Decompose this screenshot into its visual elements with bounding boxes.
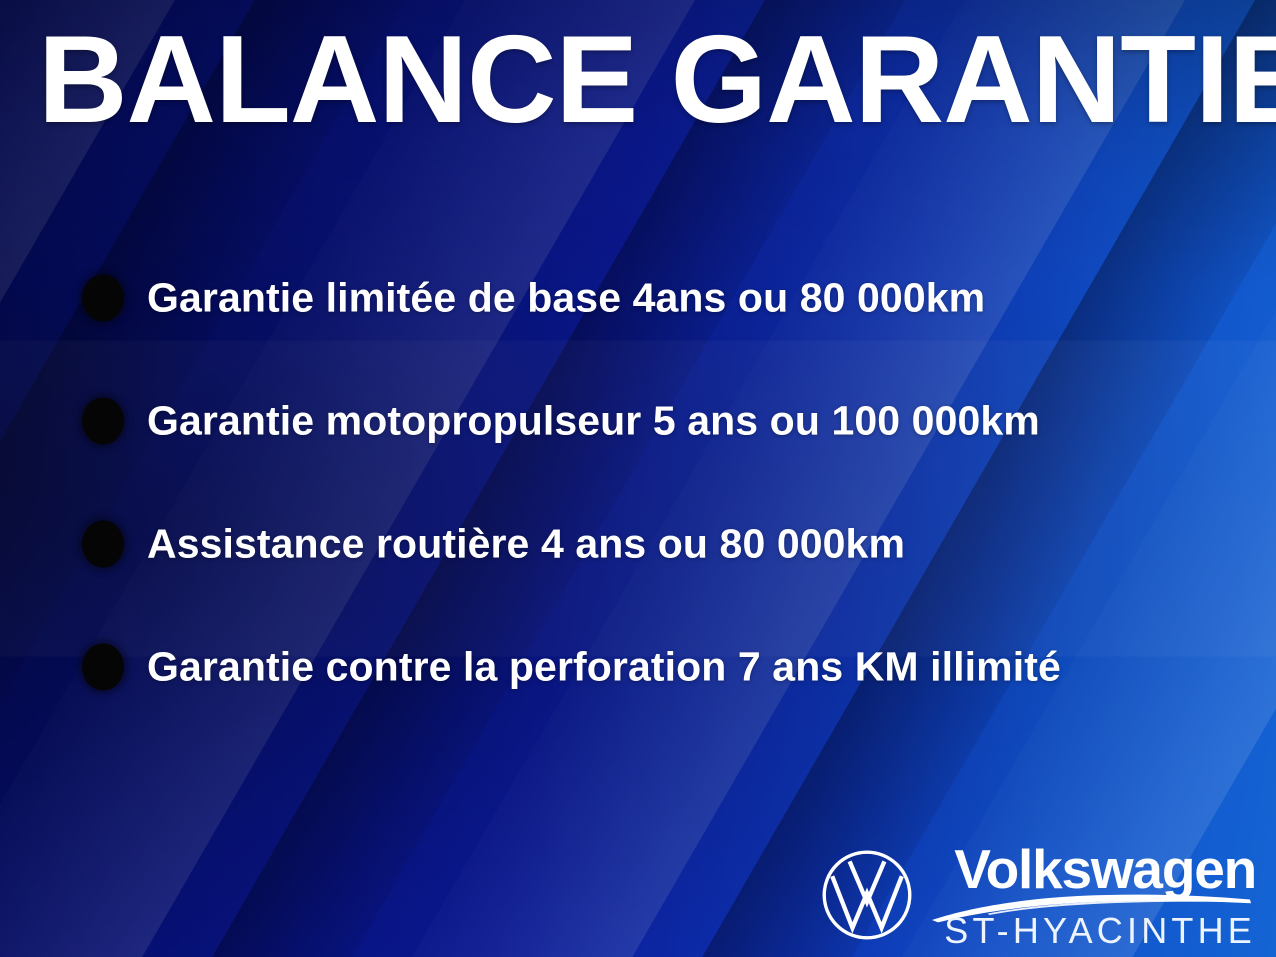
volkswagen-roundel-icon [820,848,914,942]
warranty-list: Garantie limitée de base 4ans ou 80 000k… [0,236,1276,728]
volkswagen-logo-lockup: Volkswagen ST-HYACINTHE [820,842,1258,949]
list-item: Assistance routière 4 ans ou 80 000km [0,482,1276,605]
warranty-item-label: Garantie contre la perforation 7 ans KM … [147,643,1061,690]
dealer-name: ST-HYACINTHE [944,913,1258,949]
promo-banner: BALANCE GARANTIE Garantie limitée de bas… [0,0,1276,957]
list-item: Garantie limitée de base 4ans ou 80 000k… [0,236,1276,359]
bullet-dot-icon [82,274,124,321]
warranty-item-label: Garantie limitée de base 4ans ou 80 000k… [147,274,985,321]
bullet-dot-icon [82,520,124,567]
warranty-item-label: Assistance routière 4 ans ou 80 000km [147,520,905,567]
bullet-dot-icon [82,397,124,444]
list-item: Garantie contre la perforation 7 ans KM … [0,605,1276,728]
warranty-item-label: Garantie motopropulseur 5 ans ou 100 000… [147,397,1040,444]
bullet-dot-icon [82,643,124,690]
list-item: Garantie motopropulseur 5 ans ou 100 000… [0,359,1276,482]
volkswagen-wordmark-block: Volkswagen ST-HYACINTHE [928,842,1258,949]
banner-content: BALANCE GARANTIE Garantie limitée de bas… [0,0,1276,957]
page-title: BALANCE GARANTIE [38,18,1276,142]
